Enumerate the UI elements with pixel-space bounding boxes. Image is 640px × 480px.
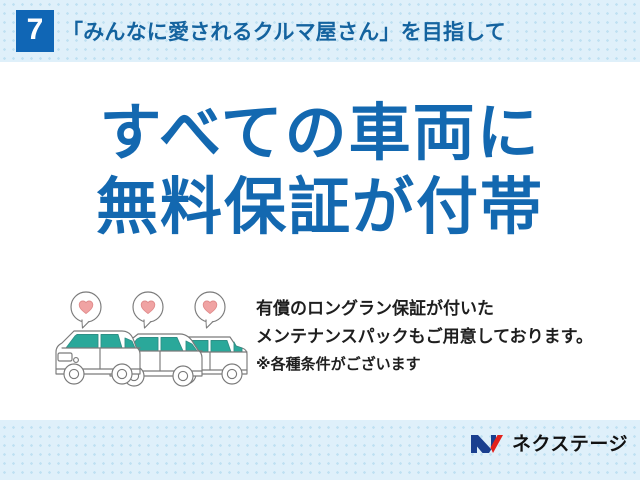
main-title-line-2: 無料保証が付帯 <box>0 174 640 240</box>
body-text-note: ※各種条件がございます <box>256 352 636 376</box>
nexstage-n-logo-icon <box>469 431 505 455</box>
main-title-line-1: すべての車両に <box>0 100 640 166</box>
header-tagline: 「みんなに愛されるクルマ屋さん」を目指して <box>62 16 506 46</box>
brand-name-label: ネクステージ <box>512 429 628 456</box>
body-text-line-2: メンテナンスパックもご用意しております。 <box>256 324 636 352</box>
cars-illustration-svg <box>52 290 252 390</box>
body-text: 有償のロングラン保証が付いた メンテナンスパックもご用意しております。 ※各種条… <box>256 296 636 376</box>
section-number-label: 7 <box>27 15 44 45</box>
banner-footer: ネクステージ <box>0 420 640 480</box>
banner-header: 7 「みんなに愛されるクルマ屋さん」を目指して <box>0 0 640 62</box>
section-number-badge: 7 <box>16 10 54 52</box>
body-text-line-1: 有償のロングラン保証が付いた <box>256 296 636 324</box>
heart-bubble-2 <box>133 292 163 328</box>
heart-bubble-1 <box>71 292 101 328</box>
content-card: すべての車両に 無料保証が付帯 <box>0 62 640 420</box>
car-kei-wagon <box>56 331 140 384</box>
main-title: すべての車両に 無料保証が付帯 <box>0 100 640 239</box>
heart-bubble-3 <box>195 292 225 328</box>
promo-banner: 7 「みんなに愛されるクルマ屋さん」を目指して すべての車両に 無料保証が付帯 <box>0 0 640 480</box>
brand-logo: ネクステージ <box>469 429 628 456</box>
cars-illustration <box>52 290 252 390</box>
